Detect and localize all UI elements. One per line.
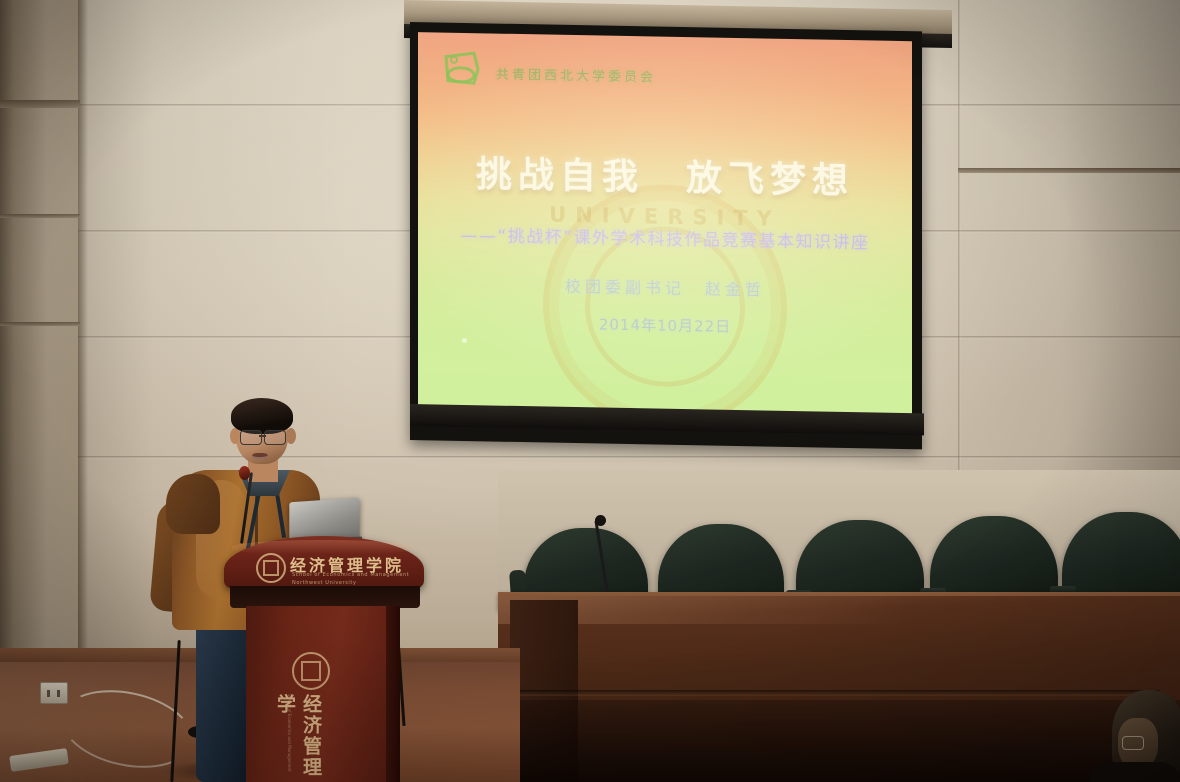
audience-member-body	[1090, 762, 1180, 782]
projection-screen: 共青团西北大学委员会 UNIVERSITY 挑战自我 放飞梦想 ——“挑战杯”课…	[410, 22, 922, 449]
glasses-icon	[264, 430, 286, 445]
glasses-icon	[1122, 736, 1144, 750]
podium-side-edge	[386, 606, 400, 782]
screen-glow	[418, 32, 912, 415]
podium-school-name-en: School of Economics and Management	[292, 572, 409, 578]
university-seal-icon	[256, 553, 286, 583]
podium-shadow-band	[230, 586, 420, 608]
projected-slide: 共青团西北大学委员会 UNIVERSITY 挑战自我 放飞梦想 ——“挑战杯”课…	[418, 32, 912, 415]
glasses-icon	[240, 430, 262, 445]
podium-panel-text: 经济管理学	[296, 694, 324, 782]
speaker-shoulder	[166, 474, 220, 534]
speaker-ear	[286, 428, 296, 444]
desk-shadow	[498, 700, 1180, 782]
glasses-bridge-icon	[259, 435, 266, 437]
podium-microphone-icon	[239, 466, 250, 480]
speaker-hair	[231, 398, 293, 434]
speaker-mouth	[252, 453, 268, 459]
desk-groove	[520, 690, 1160, 696]
desk-gloss	[498, 596, 1180, 624]
power-outlet-icon	[40, 682, 68, 704]
university-seal-icon	[292, 652, 330, 690]
dais-microphone-icon	[595, 515, 606, 526]
lecture-hall-photo: 共青团西北大学委员会 UNIVERSITY 挑战自我 放飞梦想 ——“挑战杯”课…	[0, 0, 1180, 782]
